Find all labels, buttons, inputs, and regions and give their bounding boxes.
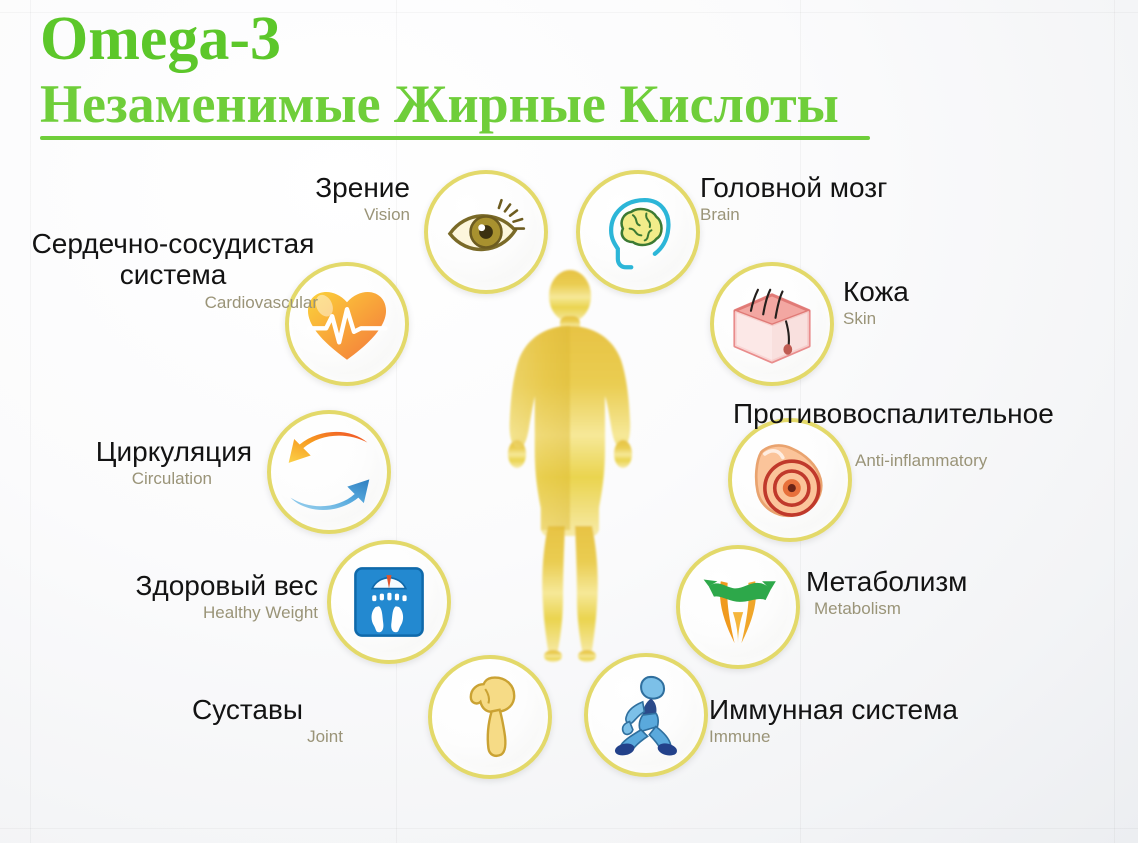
node-circulation[interactable] <box>267 410 391 534</box>
node-joint[interactable] <box>428 655 552 779</box>
label-circulation: Циркуляция Circulation <box>0 436 252 489</box>
label-anti-inflammatory-ru: Противовоспалительное <box>733 398 1054 429</box>
label-immune: Иммунная система Immune <box>709 694 958 747</box>
scale-icon <box>347 560 431 644</box>
label-metabolism: Метаболизм Metabolism <box>806 566 967 619</box>
metabolism-icon <box>695 564 781 650</box>
label-metabolism-ru: Метаболизм <box>806 566 967 597</box>
node-skin[interactable] <box>710 262 834 386</box>
arrows-cycle-icon <box>283 428 375 516</box>
label-vision-ru: Зрение <box>0 172 410 203</box>
page-title: Omega-3 <box>40 8 870 71</box>
label-circulation-en: Circulation <box>0 469 252 489</box>
title-underline <box>40 136 870 140</box>
label-healthy-weight-ru: Здоровый вес <box>0 570 318 601</box>
label-cardiovascular-ru: Сердечно-сосудистая система <box>8 228 338 291</box>
skin-layer-icon <box>728 281 816 367</box>
label-immune-ru: Иммунная система <box>709 694 958 725</box>
label-brain: Головной мозг Brain <box>700 172 887 225</box>
label-skin-en: Skin <box>843 309 909 329</box>
page-subtitle: Незаменимые Жирные Кислоты <box>40 75 870 133</box>
node-healthy-weight[interactable] <box>327 540 451 664</box>
label-immune-en: Immune <box>709 727 958 747</box>
knee-joint-icon <box>450 673 530 761</box>
label-circulation-ru: Циркуляция <box>0 436 252 467</box>
panel-seam <box>1114 0 1115 843</box>
node-immune[interactable] <box>584 653 708 777</box>
label-joint-ru: Суставы <box>0 694 425 725</box>
title-block: Omega-3 Незаменимые Жирные Кислоты <box>40 8 870 140</box>
label-brain-ru: Головной мозг <box>700 172 887 203</box>
label-joint-en: Joint <box>0 727 425 747</box>
label-joint: Суставы Joint <box>0 694 425 747</box>
eye-icon <box>443 189 529 275</box>
human-body-silhouette <box>455 268 685 668</box>
label-anti-inflammatory-en: Anti-inflammatory <box>855 451 1054 471</box>
label-cardiovascular-en: Cardiovascular <box>8 293 348 313</box>
label-healthy-weight: Здоровый вес Healthy Weight <box>0 570 318 623</box>
label-vision-en: Vision <box>0 205 410 225</box>
infographic-slide: Omega-3 Незаменимые Жирные Кислоты <box>0 0 1138 843</box>
brain-icon <box>596 190 680 274</box>
label-skin-ru: Кожа <box>843 276 909 307</box>
label-anti-inflammatory: Противовоспалительное Anti-inflammatory <box>733 398 1054 471</box>
running-person-icon <box>605 672 687 758</box>
label-healthy-weight-en: Healthy Weight <box>0 603 318 623</box>
label-brain-en: Brain <box>700 205 887 225</box>
label-cardiovascular: Сердечно-сосудистая система Cardiovascul… <box>8 228 348 313</box>
label-vision: Зрение Vision <box>0 172 410 225</box>
label-skin: Кожа Skin <box>843 276 909 329</box>
node-metabolism[interactable] <box>676 545 800 669</box>
panel-seam-horizontal <box>0 828 1138 829</box>
label-metabolism-en: Metabolism <box>814 599 967 619</box>
